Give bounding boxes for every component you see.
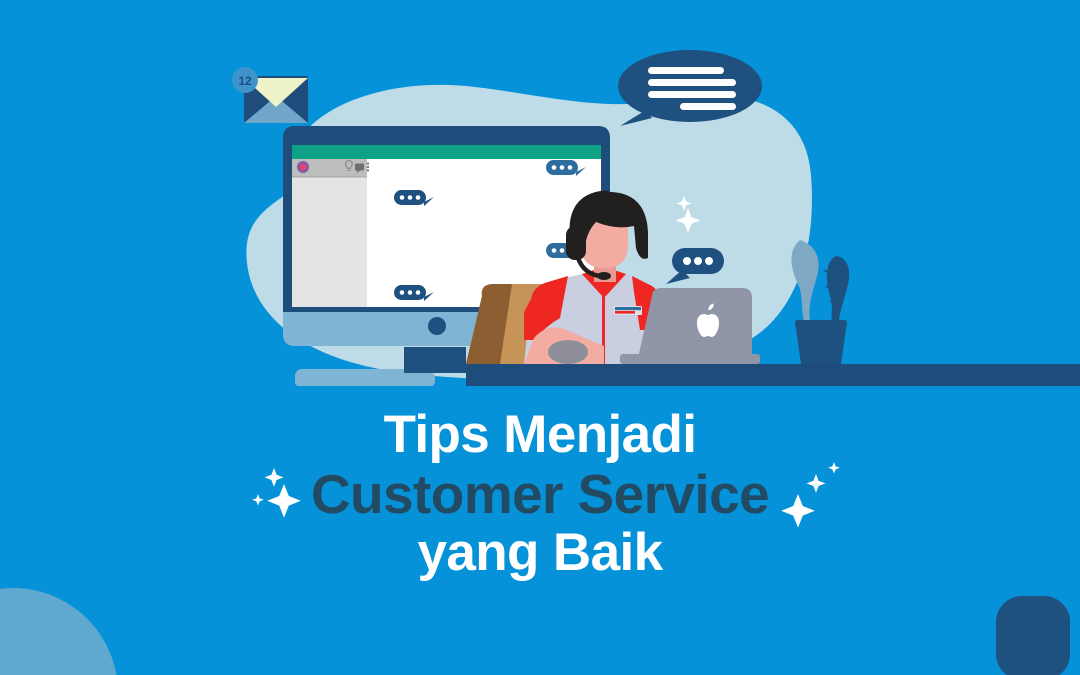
customer-service-illustration: 12 [0, 0, 1080, 420]
corner-circle-decoration [0, 588, 118, 675]
more-vertical-icon[interactable] [367, 163, 369, 172]
sparkle-icon [676, 196, 701, 233]
headline-line-1: Tips Menjadi [0, 408, 1080, 462]
desk-icon [466, 364, 1080, 386]
envelope-badge: 12 [232, 67, 258, 93]
agent-speech-bubble [666, 248, 724, 284]
corner-rounded-square-decoration [996, 596, 1070, 675]
potted-plant-icon [791, 240, 849, 364]
avatar-icon[interactable] [297, 161, 309, 173]
desk-shadow [295, 373, 435, 386]
poster-headline: Tips Menjadi Customer Service yang Baik [0, 408, 1080, 580]
envelope-badge-count: 12 [238, 74, 252, 88]
headline-line-2: Customer Service [0, 466, 1080, 522]
headline-line-3: yang Baik [0, 526, 1080, 580]
poster-canvas: 12 [0, 0, 1080, 675]
speech-bubble-icon [618, 50, 762, 126]
